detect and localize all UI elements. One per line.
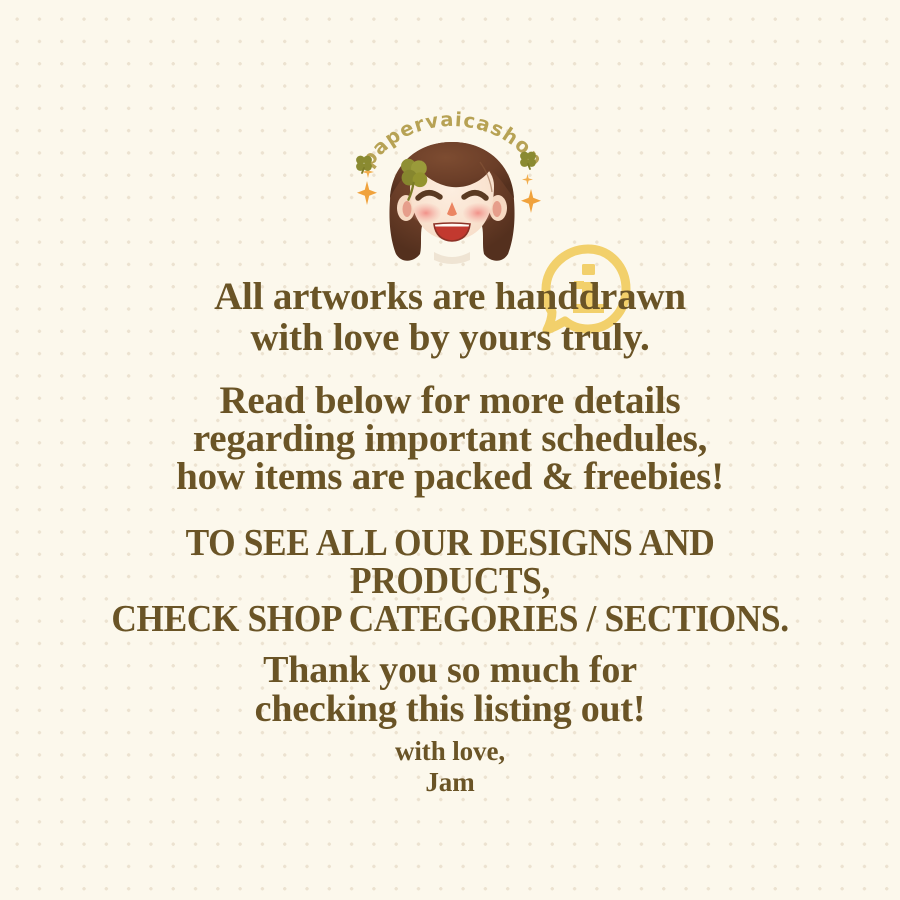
text-line: CHECK SHOP CATEGORIES / SECTIONS. — [32, 600, 869, 638]
signature-name: Jam — [0, 767, 900, 798]
paragraph-read-below: Read below for more details regarding im… — [0, 382, 900, 496]
text-line: TO SEE ALL OUR DESIGNS AND — [32, 524, 869, 562]
collar — [434, 252, 470, 264]
signature-closing: with love, — [0, 736, 900, 767]
text-line: Read below for more details — [0, 382, 900, 420]
announcement-text: All artworks are handdrawn with love by … — [0, 276, 900, 798]
text-line: how items are packed & freebies! — [0, 458, 900, 496]
text-line: checking this listing out! — [0, 690, 900, 729]
blush-right — [463, 203, 493, 223]
paragraph-thanks: Thank you so much for checking this list… — [0, 651, 900, 729]
blush-left — [411, 203, 441, 223]
text-line: All artworks are handdrawn — [0, 276, 900, 317]
text-line: with love by yours truly. — [0, 317, 900, 358]
text-line: PRODUCTS, — [32, 562, 869, 600]
text-line: regarding important schedules, — [0, 420, 900, 458]
text-line: Thank you so much for — [0, 651, 900, 690]
paragraph-intro: All artworks are handdrawn with love by … — [0, 276, 900, 358]
shop-header: papervaicashop — [0, 112, 900, 277]
avatar-illustration — [362, 134, 542, 277]
ear-left-inner — [403, 201, 412, 217]
announcement-card: papervaicashop — [0, 0, 900, 900]
ear-right-inner — [493, 201, 502, 217]
shop-logo: papervaicashop — [352, 112, 552, 277]
paragraph-designs-caps: TO SEE ALL OUR DESIGNS AND PRODUCTS, CHE… — [32, 524, 869, 638]
paragraph-signature: with love, Jam — [0, 736, 900, 798]
